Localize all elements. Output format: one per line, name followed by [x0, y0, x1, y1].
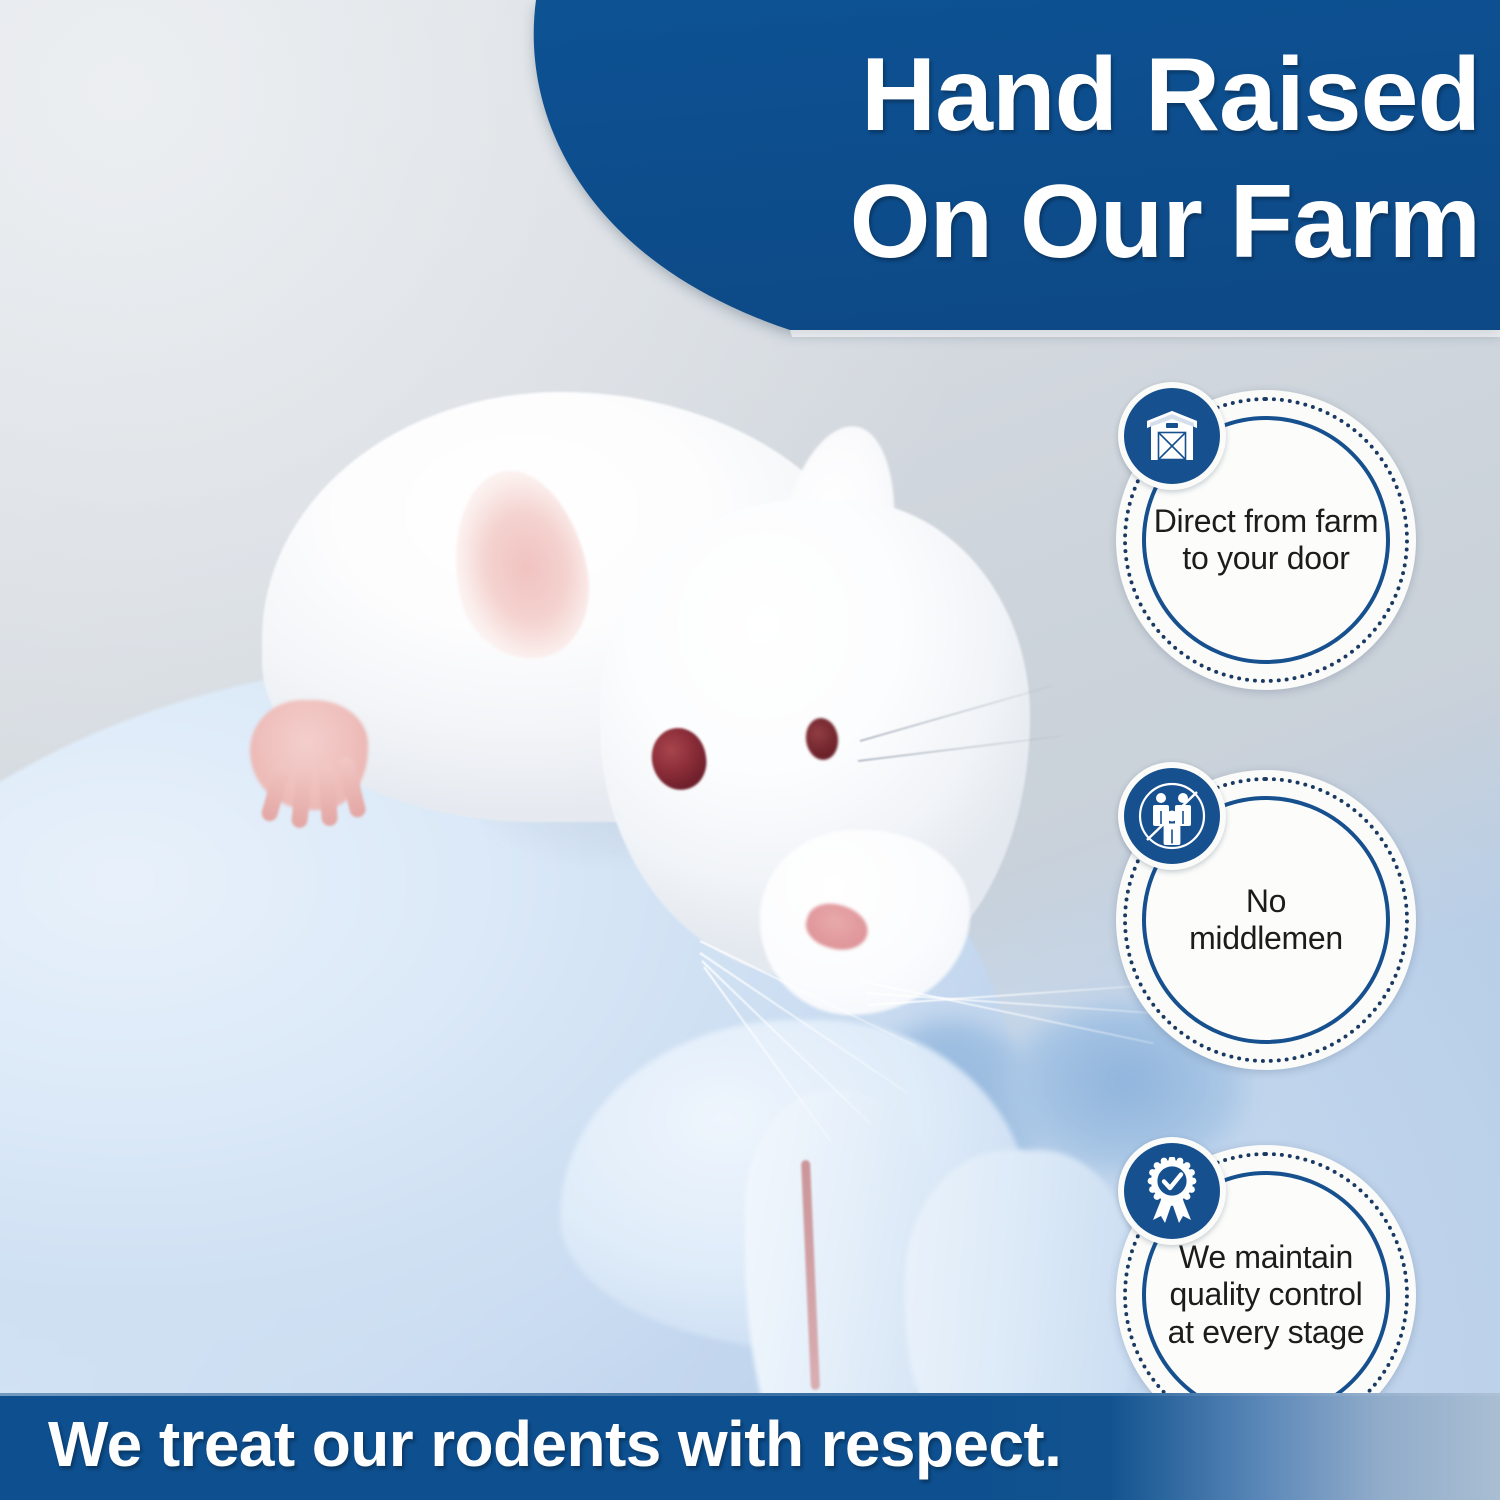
footer-tagline: We treat our rodents with respect. — [48, 1407, 1061, 1481]
no-middlemen-icon — [1137, 781, 1207, 851]
badge-label-line1: No — [1189, 883, 1343, 920]
badge-label-line1: We maintain — [1168, 1239, 1365, 1276]
badge-label-line2: quality control — [1168, 1276, 1365, 1313]
badge-icon-circle — [1118, 1137, 1226, 1245]
badge-label-line3: at every stage — [1168, 1314, 1365, 1351]
barn-icon — [1141, 408, 1203, 464]
feature-badge-no-middlemen: No middlemen — [1116, 770, 1416, 1070]
badge-icon-circle — [1118, 762, 1226, 870]
badge-icon-circle — [1118, 382, 1226, 490]
badge-label-line1: Direct from farm — [1154, 503, 1379, 540]
feature-badge-direct-from-farm: Direct from farm to your door — [1116, 390, 1416, 690]
quality-award-icon — [1139, 1157, 1205, 1225]
badge-label-line2: to your door — [1154, 540, 1379, 577]
promo-image-canvas: Hand Raised On Our Farm Direct from farm… — [0, 0, 1500, 1500]
badge-label-line2: middlemen — [1189, 920, 1343, 957]
